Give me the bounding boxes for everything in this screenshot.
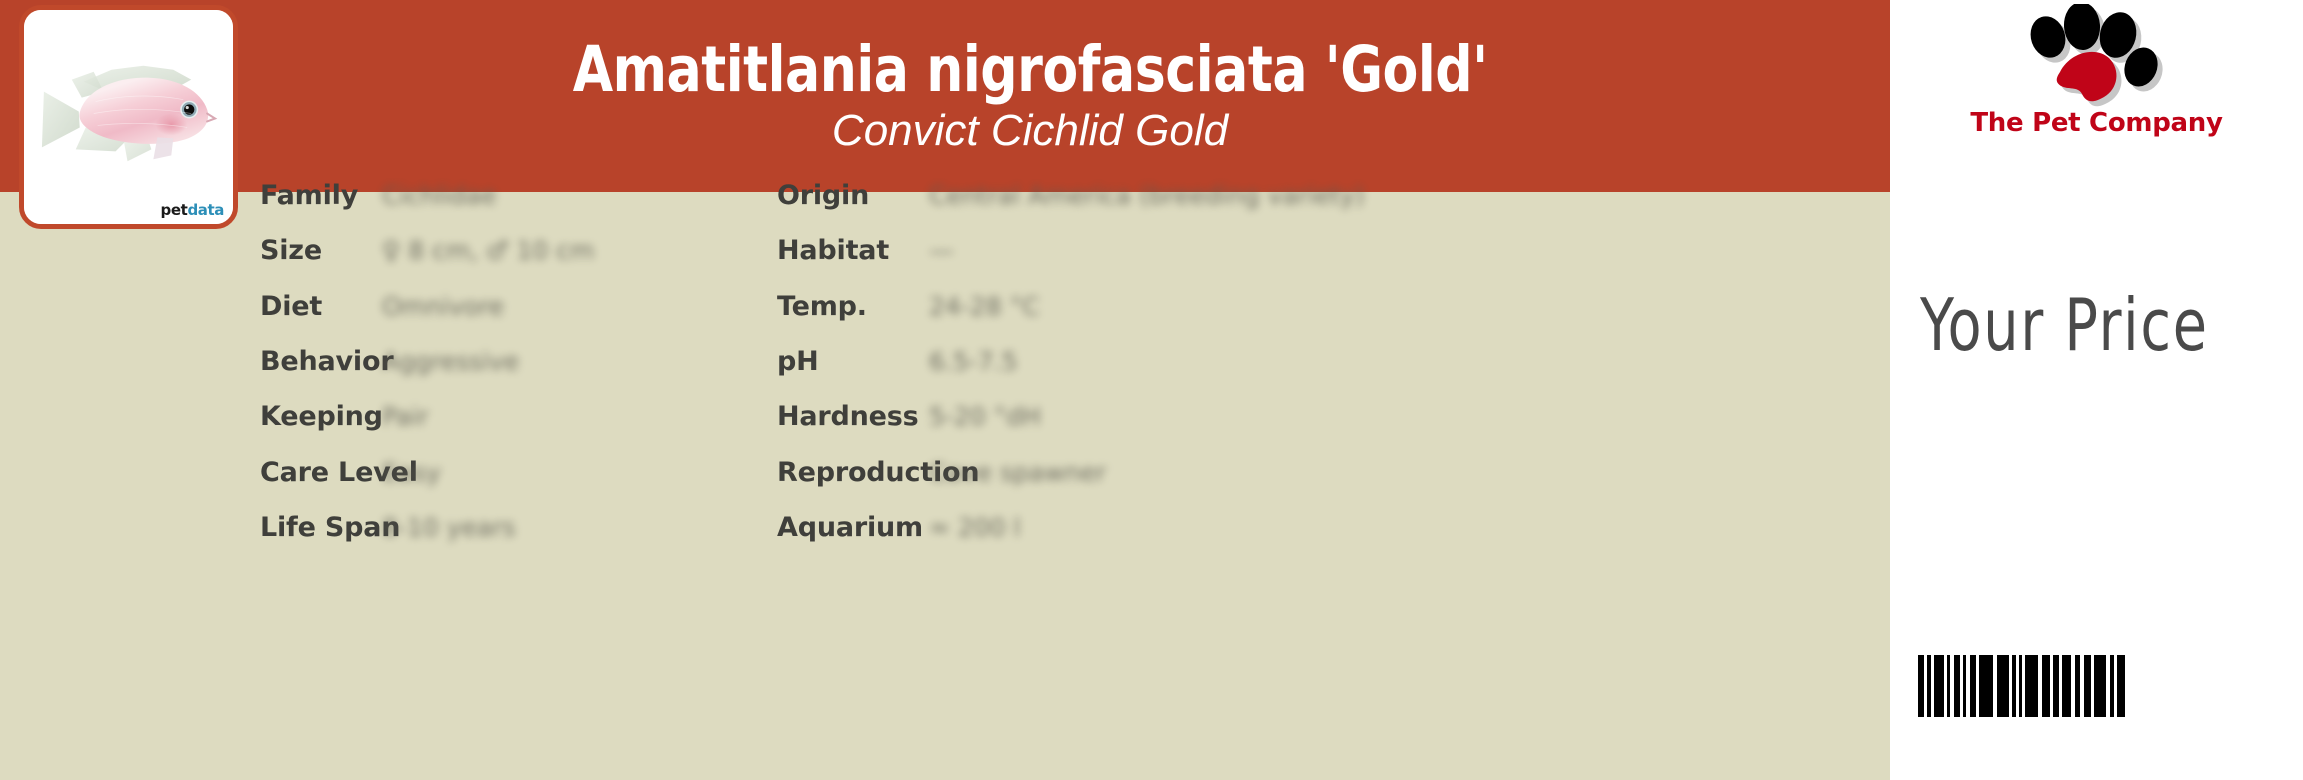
- brand-logo: The Pet Company: [1890, 4, 2303, 146]
- barcode-bar: [2094, 655, 2106, 717]
- spec-value-keeping: Pair: [382, 402, 429, 431]
- spec-row: Aquarium ≈ 200 l: [777, 500, 1021, 555]
- spec-label-behavior: Behavior: [260, 346, 382, 377]
- spec-row: Keeping Pair: [260, 389, 429, 444]
- title-block: Amatitlania nigrofasciata 'Gold' Convict…: [330, 0, 1730, 192]
- spec-row: pH 6.5-7.5: [777, 334, 1018, 389]
- spec-label-diet: Diet: [260, 291, 382, 322]
- barcode-bar: [2062, 655, 2071, 717]
- page-title: Amatitlania nigrofasciata 'Gold': [573, 37, 1488, 103]
- spec-row: Size ♀ 8 cm, ♂ 10 cm: [260, 223, 594, 278]
- barcode: [1918, 655, 2125, 717]
- spec-value-hardness: 5-20 °dH: [929, 402, 1041, 431]
- barcode-bar: [2117, 655, 2125, 717]
- spec-value-behavior: Aggressive: [382, 347, 519, 376]
- spec-value-temp: 24-28 °C: [929, 292, 1040, 321]
- spec-row: Habitat —: [777, 223, 954, 278]
- spec-label-care-level: Care Level: [260, 457, 382, 488]
- spec-row: Reproduction Cave spawner: [777, 445, 1106, 500]
- barcode-bar: [2084, 655, 2091, 717]
- spec-row: Family Cichlidae: [260, 168, 496, 223]
- spec-label-temp: Temp.: [777, 291, 929, 322]
- your-price-label: Your Price: [1920, 283, 2209, 367]
- spec-row: Life Span 8-10 years: [260, 500, 515, 555]
- spec-row: Temp. 24-28 °C: [777, 279, 1040, 334]
- spec-row: Care Level Easy: [260, 445, 441, 500]
- spec-value-care-level: Easy: [382, 458, 441, 487]
- spec-label-habitat: Habitat: [777, 235, 929, 266]
- spec-label-reproduction: Reproduction: [777, 457, 929, 488]
- spec-label-aquarium: Aquarium: [777, 512, 929, 543]
- paw-pad: [2056, 52, 2116, 101]
- spec-value-origin: Central America (breeding variety): [929, 181, 1365, 210]
- brand-name: The Pet Company: [1890, 108, 2303, 138]
- spec-value-size: ♀ 8 cm, ♂ 10 cm: [382, 236, 594, 265]
- spec-label-keeping: Keeping: [260, 401, 382, 432]
- spec-row: Behavior Aggressive: [260, 334, 519, 389]
- spec-row: Origin Central America (breeding variety…: [777, 168, 1365, 223]
- barcode-bar: [2042, 655, 2050, 717]
- spec-label-life-span: Life Span: [260, 512, 382, 543]
- barcode-bar: [1997, 655, 2009, 717]
- barcode-bar: [2025, 655, 2038, 717]
- spec-row: Hardness 5-20 °dH: [777, 389, 1041, 444]
- spec-label-ph: pH: [777, 346, 929, 377]
- spec-value-diet: Omnivore: [382, 292, 504, 321]
- common-name-subtitle: Convict Cichlid Gold: [832, 107, 1228, 155]
- species-info-card: Amatitlania nigrofasciata 'Gold' Convict…: [0, 0, 1890, 780]
- paw-print-icon: [2012, 4, 2182, 114]
- spec-row: Diet Omnivore: [260, 279, 504, 334]
- spec-value-family: Cichlidae: [382, 181, 496, 210]
- spec-label-hardness: Hardness: [777, 401, 929, 432]
- spec-value-aquarium: ≈ 200 l: [929, 513, 1021, 542]
- spec-label-origin: Origin: [777, 180, 929, 211]
- spec-label-size: Size: [260, 235, 382, 266]
- spec-value-habitat: —: [929, 236, 954, 265]
- spec-value-reproduction: Cave spawner: [929, 458, 1106, 487]
- barcode-bar: [1934, 655, 1944, 717]
- barcode-bar: [1979, 655, 1993, 717]
- spec-value-life-span: 8-10 years: [382, 513, 515, 542]
- spec-column-right: Origin Central America (breeding variety…: [777, 192, 1777, 780]
- spec-column-left: Family Cichlidae Size ♀ 8 cm, ♂ 10 cm Di…: [260, 192, 780, 780]
- spec-value-ph: 6.5-7.5: [929, 347, 1018, 376]
- spec-label-family: Family: [260, 180, 382, 211]
- spec-grid: Family Cichlidae Size ♀ 8 cm, ♂ 10 cm Di…: [0, 192, 1890, 780]
- price-panel: The Pet Company Your Price: [1890, 0, 2303, 780]
